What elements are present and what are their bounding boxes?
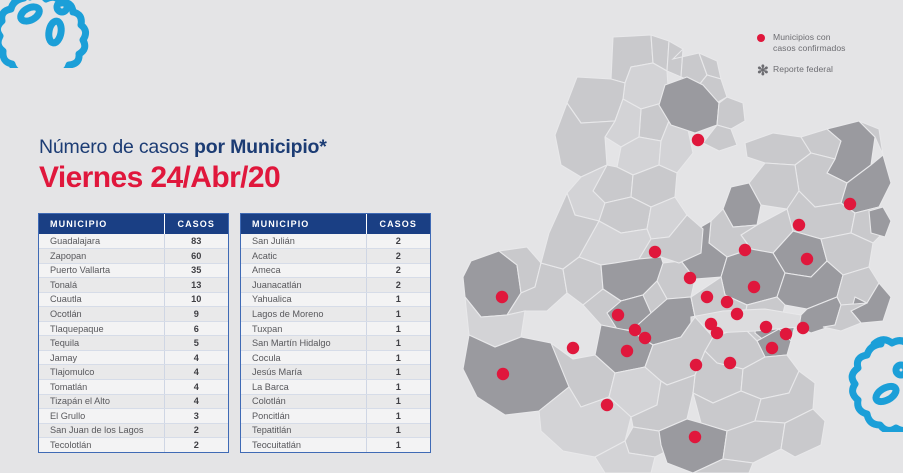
table-row: Tonalá13 [39,278,228,293]
legend-label: Municipios con casos confirmados [773,32,846,55]
table-row: Tuxpan1 [241,321,430,336]
casos-cell: 2 [366,249,430,264]
casos-cell: 1 [366,365,430,380]
casos-cell: 4 [164,365,228,380]
table-row: Tizapán el Alto4 [39,394,228,409]
casos-cell: 1 [366,307,430,322]
case-dot-marker [497,368,509,380]
casos-cell: 1 [366,438,430,453]
casos-cell: 4 [164,394,228,409]
map-shapes [463,35,891,473]
municipio-cell: Colotlán [241,394,366,409]
casos-cell: 5 [164,336,228,351]
casos-cell: 4 [164,379,228,394]
table-row: Puerto Vallarta35 [39,263,228,278]
casos-cell: 13 [164,278,228,293]
case-dot-marker [739,244,751,256]
municipio-cell: Tecolotlán [39,438,164,453]
table-row: Tepatitlán1 [241,423,430,438]
casos-cell: 9 [164,307,228,322]
municipio-cell: Tuxpan [241,321,366,336]
case-dot-marker [801,253,813,265]
municipio-cell: Tlaquepaque [39,321,164,336]
casos-cell: 1 [366,423,430,438]
title-block: Número de casos por Municipio* Viernes 2… [39,136,327,196]
case-dot-marker [649,246,661,258]
case-dot-marker [496,291,508,303]
table-row: San Julián2 [241,234,430,249]
table-row: Tlajomulco4 [39,365,228,380]
table-row: Colotlán1 [241,394,430,409]
table-row: El Grullo3 [39,409,228,424]
legend-item-federal: ✻ Reporte federal [757,64,846,75]
case-dot-marker [793,219,805,231]
table-row: Juanacatlán2 [241,278,430,293]
casos-cell: 60 [164,249,228,264]
municipio-cell: La Barca [241,379,366,394]
municipio-cell: Zapopan [39,249,164,264]
municipio-cell: Tlajomulco [39,365,164,380]
casos-cell: 1 [366,379,430,394]
municipio-cell: El Grullo [39,409,164,424]
case-dot-marker [780,328,792,340]
municipio-cell: Ocotlán [39,307,164,322]
casos-cell: 35 [164,263,228,278]
page-title-bold: por Municipio* [194,136,327,158]
table-2-header-casos: CASOS [366,214,430,234]
municipio-cell: Puerto Vallarta [39,263,164,278]
casos-cell: 1 [366,292,430,307]
case-dot-marker [844,198,856,210]
municipio-cell: Guadalajara [39,234,164,249]
infographic-root: Número de casos por Municipio* Viernes 2… [0,0,903,473]
case-dot-marker [711,327,723,339]
casos-cell: 6 [164,321,228,336]
legend-item-confirmed: Municipios con casos confirmados [757,32,846,55]
case-dot-marker [601,399,613,411]
municipio-cell: San Julián [241,234,366,249]
case-dot-marker [689,431,701,443]
table-row: Zapopan60 [39,249,228,264]
virus-decor-icon-top-left [0,0,104,68]
municipio-cell: Yahualica [241,292,366,307]
page-date: Viernes 24/Abr/20 [39,161,327,196]
table-row: Tomatlán4 [39,379,228,394]
jalisco-map [455,25,903,473]
municipio-cell: Jesús María [241,365,366,380]
red-dot-icon [757,32,773,42]
table-header-row: MUNICIPIO CASOS [241,214,430,234]
municipio-cell: San Martín Hidalgo [241,336,366,351]
municipio-cell: Poncitlán [241,409,366,424]
table-row: Tequila5 [39,336,228,351]
case-dot-marker [639,332,651,344]
table-row: Ameca2 [241,263,430,278]
municipio-cell: Tequila [39,336,164,351]
municipio-cell: Ameca [241,263,366,278]
case-dot-marker [692,134,704,146]
case-dot-marker [690,359,702,371]
case-dot-marker [724,357,736,369]
table-row: Tecolotlán2 [39,438,228,453]
table-1-header-municipio: MUNICIPIO [39,214,164,234]
table-row: Poncitlán1 [241,409,430,424]
case-dot-marker [684,272,696,284]
case-dot-marker [731,308,743,320]
municipio-cell: Tepatitlán [241,423,366,438]
table-row: Acatic2 [241,249,430,264]
legend-label: Reporte federal [773,64,833,75]
municipio-cell: Cocula [241,350,366,365]
table-row: Guadalajara83 [39,234,228,249]
map-legend: Municipios con casos confirmados ✻ Repor… [757,32,846,84]
municipio-cell: Cuautla [39,292,164,307]
table-row: Cuautla10 [39,292,228,307]
municipio-cell: San Juan de los Lagos [39,423,164,438]
casos-cell: 2 [366,234,430,249]
asterisk-icon: ✻ [757,64,773,75]
casos-cell: 2 [164,438,228,453]
casos-cell: 4 [164,350,228,365]
table-row: Tlaquepaque6 [39,321,228,336]
municipio-cell: Teocuitatlán [241,438,366,453]
casos-cell: 2 [164,423,228,438]
municipio-cell: Jamay [39,350,164,365]
cases-table-1: MUNICIPIO CASOS Guadalajara83 Zapopan60 … [38,213,229,453]
page-title-light: Número de casos [39,136,194,158]
casos-cell: 3 [164,409,228,424]
municipio-cell: Acatic [241,249,366,264]
table-row: Jamay4 [39,350,228,365]
case-dot-marker [721,296,733,308]
casos-cell: 1 [366,409,430,424]
table-1-header-casos: CASOS [164,214,228,234]
case-dot-marker [748,281,760,293]
case-dot-marker [760,321,772,333]
table-row: Lagos de Moreno1 [241,307,430,322]
cases-table-2: MUNICIPIO CASOS San Julián2 Acatic2 Amec… [240,213,431,453]
casos-cell: 1 [366,336,430,351]
municipio-cell: Tomatlán [39,379,164,394]
case-dot-marker [766,342,778,354]
casos-cell: 1 [366,321,430,336]
case-dot-marker [567,342,579,354]
table-2-header-municipio: MUNICIPIO [241,214,366,234]
case-dot-marker [621,345,633,357]
municipio-cell: Juanacatlán [241,278,366,293]
municipio-cell: Lagos de Moreno [241,307,366,322]
page-title: Número de casos por Municipio* [39,136,327,158]
casos-cell: 10 [164,292,228,307]
table-row: San Juan de los Lagos2 [39,423,228,438]
case-dot-marker [612,309,624,321]
table-header-row: MUNICIPIO CASOS [39,214,228,234]
table-row: Jesús María1 [241,365,430,380]
table-row: Yahualica1 [241,292,430,307]
table-row: San Martín Hidalgo1 [241,336,430,351]
table-row: Cocula1 [241,350,430,365]
casos-cell: 1 [366,394,430,409]
case-dot-marker [701,291,713,303]
table-row: La Barca1 [241,379,430,394]
case-dot-marker [629,324,641,336]
table-row: Ocotlán9 [39,307,228,322]
municipio-cell: Tizapán el Alto [39,394,164,409]
municipio-cell: Tonalá [39,278,164,293]
casos-cell: 83 [164,234,228,249]
case-dot-marker [797,322,809,334]
casos-cell: 1 [366,350,430,365]
casos-cell: 2 [366,263,430,278]
table-row: Teocuitatlán1 [241,438,430,453]
casos-cell: 2 [366,278,430,293]
